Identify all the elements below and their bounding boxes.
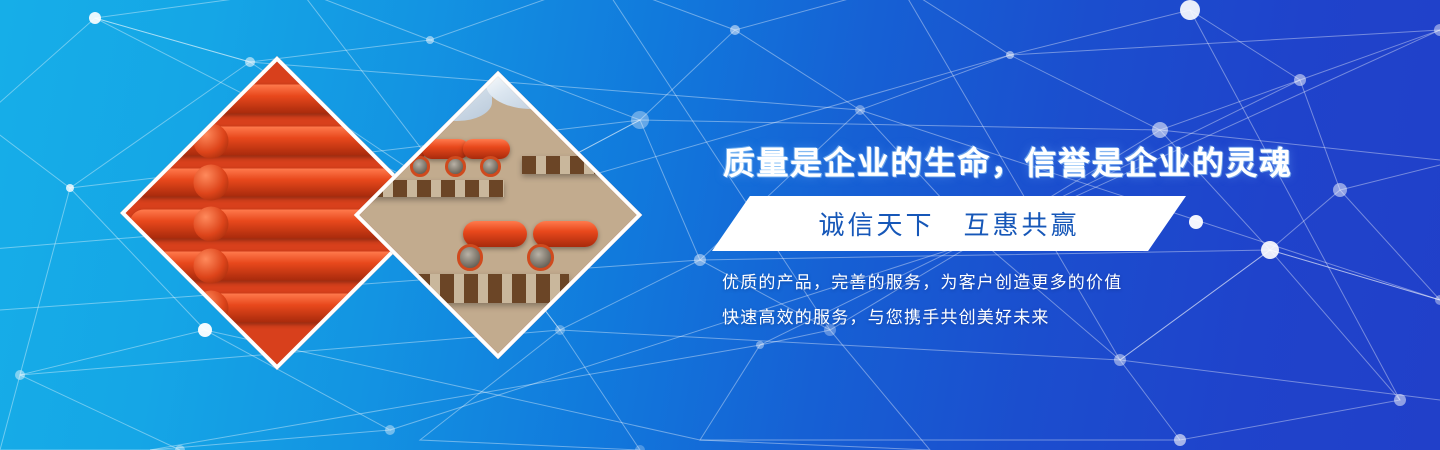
promo-banner: 质量是企业的生命，信誉是企业的灵魂 诚信天下 互惠共赢 优质的产品，完善的服务，… [0, 0, 1440, 450]
banner-headline: 质量是企业的生命，信誉是企业的灵魂 [723, 138, 1293, 184]
ribbon-slogan: 诚信天下 互惠共赢 [712, 196, 1186, 251]
banner-subline-primary: 优质的产品，完善的服务，为客户创造更多的价值 [722, 268, 1122, 293]
banner-subline-secondary: 快速高效的服务，与您携手共创美好未来 [722, 303, 1050, 328]
